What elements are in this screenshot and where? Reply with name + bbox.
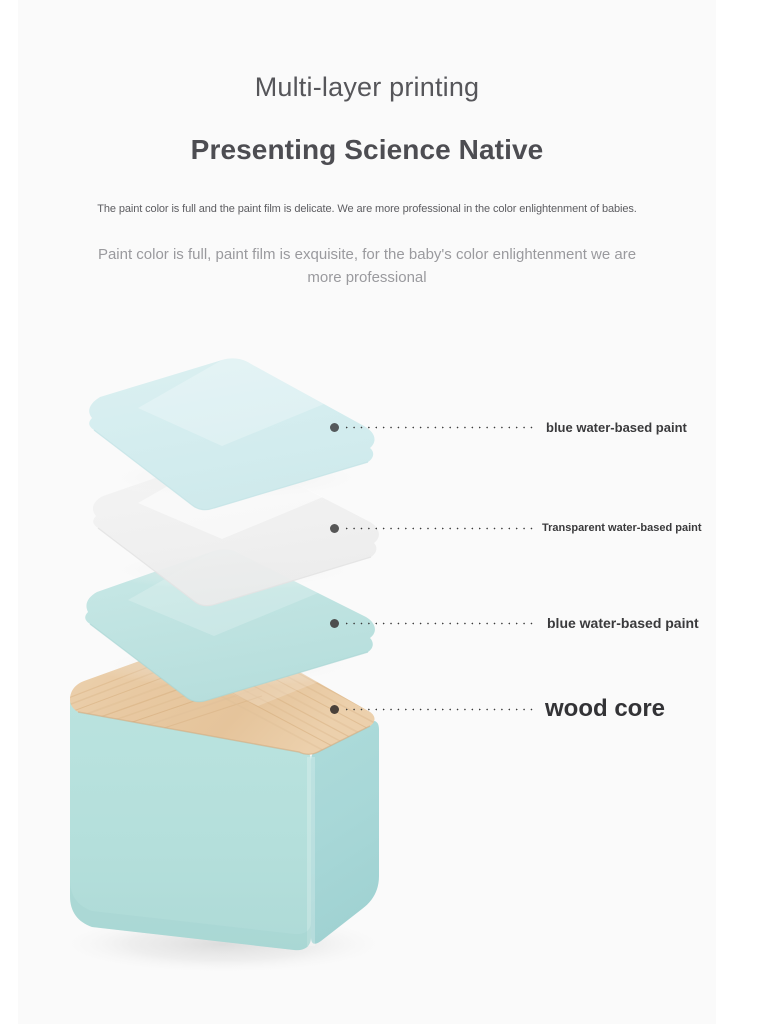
leader-line [343, 622, 536, 625]
callout-wood-core[interactable]: wood core [330, 700, 665, 718]
callout-label: blue water-based paint [547, 615, 699, 631]
callout-blue-water-based-paint-lower[interactable]: blue water-based paint [330, 614, 699, 632]
callout-transparent-water-based-paint[interactable]: Transparent water-based paint [330, 519, 702, 537]
callout-dot-icon [330, 423, 339, 432]
callout-dot-icon [330, 524, 339, 533]
block-corner-highlight [307, 757, 315, 946]
callout-dot-icon [330, 705, 339, 714]
callout-dot-icon [330, 619, 339, 628]
callout-label: blue water-based paint [546, 420, 687, 435]
diagram-svg [18, 0, 716, 1024]
leader-line [343, 426, 535, 429]
page-root: Multi-layer printing Presenting Science … [0, 0, 768, 1024]
layer-diagram-illustration [18, 0, 716, 1024]
callout-label: wood core [545, 695, 665, 723]
callout-label: Transparent water-based paint [542, 522, 702, 534]
leader-line [343, 527, 533, 530]
content-board: Multi-layer printing Presenting Science … [18, 0, 716, 1024]
block-right-face [311, 721, 379, 944]
leader-line [343, 708, 533, 711]
callout-blue-water-based-paint-top[interactable]: blue water-based paint [330, 418, 687, 436]
